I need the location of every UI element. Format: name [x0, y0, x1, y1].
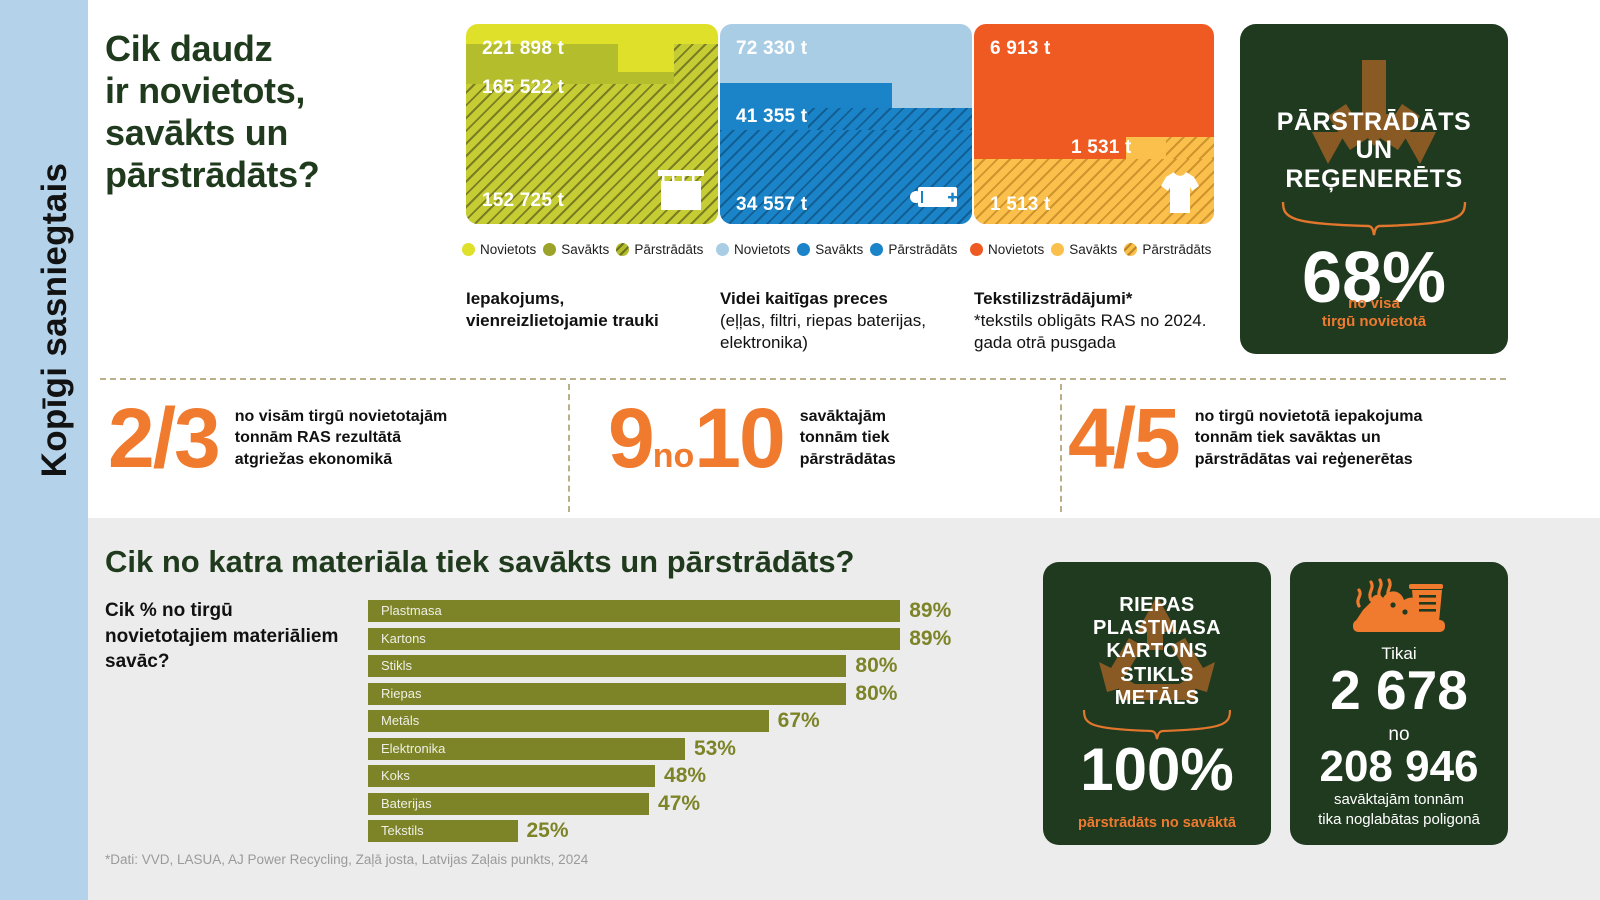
bar-row: Stikls80% — [368, 655, 1008, 681]
caption-textile: Tekstilizstrādājumi* *tekstils obligāts … — [974, 288, 1214, 354]
legend-textile: Novietots Savākts Pārstrādāts — [970, 242, 1211, 257]
legend-swatch-placed — [716, 243, 729, 256]
bar-label: Baterijas — [381, 793, 432, 815]
ratio-number: 9no10 — [608, 396, 784, 480]
stat-card-landfill: Tikai 2 678 no 208 946 savāktajām tonnām… — [1290, 562, 1508, 845]
ratio-number: 2/3 — [108, 396, 219, 480]
legend-label-placed: Novietots — [734, 242, 790, 257]
legend-label-collected: Savākts — [815, 242, 863, 257]
bar-label: Tekstils — [381, 820, 424, 842]
ratio-text: no visām tirgū novietotajām tonnām RAS r… — [235, 406, 447, 469]
layer-recycled-step — [674, 44, 718, 84]
bar-row: Plastmasa89% — [368, 600, 1008, 626]
legend-label-collected: Savākts — [561, 242, 609, 257]
legend-label-recycled: Pārstrādāts — [634, 242, 703, 257]
value-placed: 221 898 t — [482, 38, 564, 60]
bar — [368, 765, 655, 787]
bar-value: 67% — [778, 710, 820, 732]
ratio-item-2: 9no10 savāktajām tonnām tiek pārstrādāta… — [608, 396, 896, 480]
layer-collected-step — [720, 83, 892, 108]
ratio-item-1: 2/3 no visām tirgū novietotajām tonnām R… — [108, 396, 447, 480]
divider-vertical-1 — [568, 384, 570, 512]
caption-subtitle: (eļļas, filtri, riepas baterijas, elektr… — [720, 311, 926, 352]
bar-label: Kartons — [381, 628, 426, 650]
brace-icon — [1280, 202, 1468, 236]
battery-icon — [910, 186, 958, 208]
caption-title: Iepakojums, vienreizlietojamie trauki — [466, 288, 706, 332]
bar-row: Kartons89% — [368, 628, 1008, 654]
bar-value: 53% — [694, 738, 736, 760]
bar-value: 89% — [909, 600, 951, 622]
legend-hazardous: Novietots Savākts Pārstrādāts — [716, 242, 957, 257]
legend-item-placed: Novietots — [970, 242, 1044, 257]
legend-swatch-recycled — [616, 243, 629, 256]
value-recycled: 1 513 t — [990, 194, 1051, 216]
caption-packaging: Iepakojums, vienreizlietojamie trauki — [466, 288, 706, 332]
caption-title: Videi kaitīgas preces — [720, 288, 964, 310]
legend-item-recycled: Pārstrādāts — [616, 242, 703, 257]
bar-row: Baterijas47% — [368, 793, 1008, 819]
value-placed: 72 330 t — [736, 38, 807, 60]
landfill-icon — [1349, 576, 1449, 638]
legend-label-collected: Savākts — [1069, 242, 1117, 257]
stat-card-subtitle: pārstrādāts no savāktā — [1043, 815, 1271, 831]
caption-subtitle: *tekstils obligāts RAS no 2024. gada otr… — [974, 310, 1214, 354]
legend-item-collected: Savākts — [1051, 242, 1117, 257]
bar — [368, 683, 846, 705]
bar-row: Riepas80% — [368, 683, 1008, 709]
bar — [368, 710, 769, 732]
bar-row: Elektronika53% — [368, 738, 1008, 764]
layer-recycled-step — [808, 108, 972, 130]
bar — [368, 655, 846, 677]
legend-item-placed: Novietots — [716, 242, 790, 257]
ratio-number-a: 9 — [608, 391, 653, 485]
bar-value: 25% — [527, 820, 569, 842]
rail-label: Kopīgi sasniegtais — [35, 10, 75, 630]
stat-card-materials: RIEPAS PLASTMASA KARTONS STIKLS METĀLS — [1043, 594, 1271, 710]
bar-row: Tekstils25% — [368, 820, 1008, 846]
legend-item-placed: Novietots — [462, 242, 536, 257]
bar — [368, 628, 900, 650]
left-rail: Kopīgi sasniegtais — [0, 0, 88, 900]
value-collected: 165 522 t — [482, 77, 564, 99]
page-title: Cik daudz ir novietots, savākts un pārst… — [105, 28, 455, 196]
layer-collected-solid — [1126, 137, 1166, 159]
landfill-footer: savāktajām tonnām tika noglabātas poligo… — [1290, 790, 1508, 829]
bar-chart: Plastmasa89%Kartons89%Stikls80%Riepas80%… — [368, 600, 1008, 848]
bottom-section-question: Cik % no tirgū novietotajiem materiāliem… — [105, 598, 355, 675]
ratio-item-3: 4/5 no tirgū novietotā iepakojuma tonnām… — [1068, 396, 1422, 480]
ratio-strip: 2/3 no visām tirgū novietotajām tonnām R… — [100, 378, 1506, 513]
legend-label-placed: Novietots — [480, 242, 536, 257]
legend-item-recycled: Pārstrādāts — [870, 242, 957, 257]
packaging-icon — [658, 170, 704, 210]
landfill-value: 2 678 — [1290, 662, 1508, 720]
legend-swatch-collected — [797, 243, 810, 256]
legend-item-collected: Savākts — [797, 242, 863, 257]
stat-card-subtitle: no visa tirgū novietotā — [1240, 295, 1508, 333]
ratio-text: savāktajām tonnām tiek pārstrādātas — [800, 406, 896, 469]
source-note: *Dati: VVD, LASUA, AJ Power Recycling, Z… — [105, 852, 588, 867]
legend-swatch-placed — [462, 243, 475, 256]
bar — [368, 600, 900, 622]
bar-value: 89% — [909, 628, 951, 650]
ratio-number: 4/5 — [1068, 396, 1179, 480]
stat-card-recycled-regenerated: PĀRSTRĀDĀTS UN REĢENERĒTS 68% no visa ti… — [1240, 24, 1508, 354]
ratio-number-mid: no — [653, 437, 695, 475]
value-placed: 6 913 t — [990, 38, 1051, 60]
bar-label: Riepas — [381, 683, 421, 705]
divider-top — [100, 378, 1506, 380]
legend-swatch-placed — [970, 243, 983, 256]
legend-swatch-recycled — [1124, 243, 1137, 256]
legend-label-placed: Novietots — [988, 242, 1044, 257]
bar-value: 48% — [664, 765, 706, 787]
value-collected: 1 531 t — [1071, 137, 1132, 159]
bottom-section-title: Cik no katra materiāla tiek savākts un p… — [105, 544, 855, 580]
bar-label: Plastmasa — [381, 600, 442, 622]
divider-vertical-2 — [1060, 384, 1062, 512]
bar-value: 47% — [658, 793, 700, 815]
bar-row: Koks48% — [368, 765, 1008, 791]
legend-swatch-collected — [1051, 243, 1064, 256]
legend-item-collected: Savākts — [543, 242, 609, 257]
chart-card-hazardous: 72 330 t 41 355 t 34 557 t — [720, 24, 972, 224]
caption-hazardous: Videi kaitīgas preces (eļļas, filtri, ri… — [720, 288, 964, 354]
chart-card-packaging: 221 898 t 165 522 t 152 725 t — [466, 24, 718, 224]
stat-card-title: PĀRSTRĀDĀTS UN REĢENERĒTS — [1240, 108, 1508, 193]
chart-card-textile: 6 913 t 1 531 t 1 513 t — [974, 24, 1214, 224]
legend-label-recycled: Pārstrādāts — [1142, 242, 1211, 257]
legend-swatch-collected — [543, 243, 556, 256]
ratio-number-b: 10 — [694, 391, 783, 485]
landfill-total: 208 946 — [1290, 744, 1508, 790]
bar-label: Stikls — [381, 655, 412, 677]
bar-value: 80% — [855, 683, 897, 705]
value-collected: 41 355 t — [736, 106, 807, 128]
legend-item-recycled: Pārstrādāts — [1124, 242, 1211, 257]
ratio-text: no tirgū novietotā iepakojuma tonnām tie… — [1195, 406, 1423, 469]
value-recycled: 34 557 t — [736, 194, 807, 216]
tshirt-icon — [1160, 170, 1200, 214]
bar-row: Metāls67% — [368, 710, 1008, 736]
bar-label: Metāls — [381, 710, 419, 732]
value-recycled: 152 725 t — [482, 190, 564, 212]
legend-swatch-recycled — [870, 243, 883, 256]
bar-label: Koks — [381, 765, 410, 787]
legend-packaging: Novietots Savākts Pārstrādāts — [462, 242, 703, 257]
stat-card-100-percent: RIEPAS PLASTMASA KARTONS STIKLS METĀLS 1… — [1043, 562, 1271, 845]
bar-value: 80% — [855, 655, 897, 677]
stat-card-value: 100% — [1043, 740, 1271, 800]
legend-label-recycled: Pārstrādāts — [888, 242, 957, 257]
caption-title: Tekstilizstrādājumi* — [974, 288, 1214, 310]
bar-label: Elektronika — [381, 738, 445, 760]
